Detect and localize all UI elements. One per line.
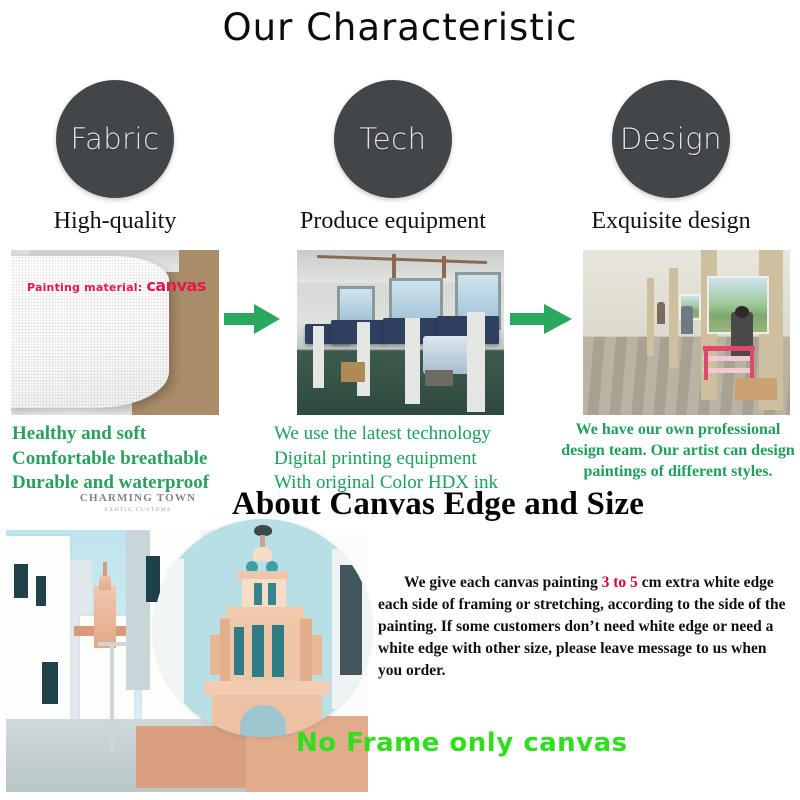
description-tech: We use the latest technology Digital pri… xyxy=(274,422,542,496)
description-line: Digital printing equipment xyxy=(274,447,542,472)
feature-circle-label: Fabric xyxy=(70,122,159,156)
tower-zoom-inset xyxy=(154,519,372,737)
photo-detail xyxy=(312,635,322,675)
photo-detail xyxy=(647,278,654,356)
photo-detail xyxy=(99,574,111,590)
photo-detail xyxy=(272,625,284,677)
canvas-overlay-text: Painting material: canvas xyxy=(27,276,206,295)
feature-circle-fabric: Fabric xyxy=(56,80,174,198)
feature-caption-fabric: High-quality xyxy=(0,208,230,235)
photo-detail xyxy=(425,370,453,386)
photo-detail xyxy=(467,312,485,412)
photo-detail xyxy=(268,583,276,605)
photo-detail xyxy=(98,642,128,646)
photo-detail xyxy=(357,322,370,396)
canvas-roll-photo: Painting material: canvas xyxy=(11,250,219,415)
photo-detail xyxy=(103,562,107,576)
photo-detail xyxy=(204,681,330,695)
photo-detail xyxy=(42,662,58,704)
feature-caption-tech: Produce equipment xyxy=(278,208,508,235)
description-design: We have our own professional design team… xyxy=(556,420,800,482)
photo-detail xyxy=(340,565,362,675)
photo-detail xyxy=(253,547,272,561)
distant-bell-tower xyxy=(94,586,116,648)
photo-detail xyxy=(300,619,312,681)
right-arrow-icon xyxy=(224,302,280,336)
photo-detail xyxy=(704,346,708,380)
photo-detail xyxy=(110,642,114,752)
photo-detail xyxy=(226,607,304,617)
photo-detail xyxy=(669,268,678,368)
photo-detail xyxy=(703,346,755,351)
description-fabric: Healthy and soft Comfortable breathable … xyxy=(12,422,268,496)
description-line: Healthy and soft xyxy=(12,422,268,447)
photo-detail xyxy=(681,306,693,334)
photo-detail xyxy=(220,619,230,681)
feature-circle-design: Design xyxy=(612,80,730,198)
edge-description-paragraph: We give each canvas painting 3 to 5 cm e… xyxy=(378,572,792,682)
paragraph-part-1: We give each canvas painting xyxy=(404,574,602,591)
description-line: paintings of different styles. xyxy=(556,462,800,483)
photo-detail xyxy=(260,535,265,547)
photo-detail xyxy=(14,564,28,598)
feature-caption-design: Exquisite design xyxy=(556,208,786,235)
photo-detail xyxy=(703,356,753,361)
photo-detail xyxy=(341,362,365,382)
photo-detail xyxy=(210,635,220,675)
photo-detail xyxy=(234,627,244,675)
description-line: Comfortable breathable xyxy=(12,447,268,472)
photo-detail xyxy=(254,583,262,605)
description-line: We have our own professional xyxy=(556,420,800,441)
canvas-overlay-small: Painting material: xyxy=(27,281,142,294)
no-frame-note: No Frame only canvas xyxy=(296,728,656,758)
feature-circle-label: Design xyxy=(620,122,722,156)
art-studio-photo xyxy=(583,250,790,415)
canvas-overlay-big: canvas xyxy=(146,276,205,295)
page-title: Our Characteristic xyxy=(0,6,800,49)
feature-circle-label: Tech xyxy=(360,122,427,156)
feature-circle-tech: Tech xyxy=(334,80,452,198)
photo-detail xyxy=(313,326,324,388)
description-line: We use the latest technology xyxy=(274,422,542,447)
photo-detail xyxy=(154,559,184,737)
photo-detail xyxy=(252,625,264,677)
photo-detail xyxy=(735,306,749,318)
paragraph-highlight: 3 to 5 xyxy=(602,574,638,591)
photo-detail xyxy=(392,254,396,280)
photo-detail xyxy=(405,318,420,404)
photo-detail xyxy=(750,346,754,380)
description-line: design team. Our artist can design xyxy=(556,441,800,462)
right-arrow-icon xyxy=(510,302,572,336)
photo-detail xyxy=(242,579,286,607)
photo-detail xyxy=(442,256,446,278)
photo-detail xyxy=(703,368,753,373)
photo-detail xyxy=(36,576,46,606)
printing-factory-photo xyxy=(297,250,504,415)
photo-detail xyxy=(735,378,777,400)
process-arrow-1 xyxy=(224,302,280,341)
photo-detail xyxy=(126,530,150,690)
process-arrow-2 xyxy=(510,302,572,341)
photo-detail xyxy=(657,302,665,324)
section-title: About Canvas Edge and Size xyxy=(178,486,698,523)
promo-page: Our Characteristic Fabric Tech Design Hi… xyxy=(0,0,800,800)
